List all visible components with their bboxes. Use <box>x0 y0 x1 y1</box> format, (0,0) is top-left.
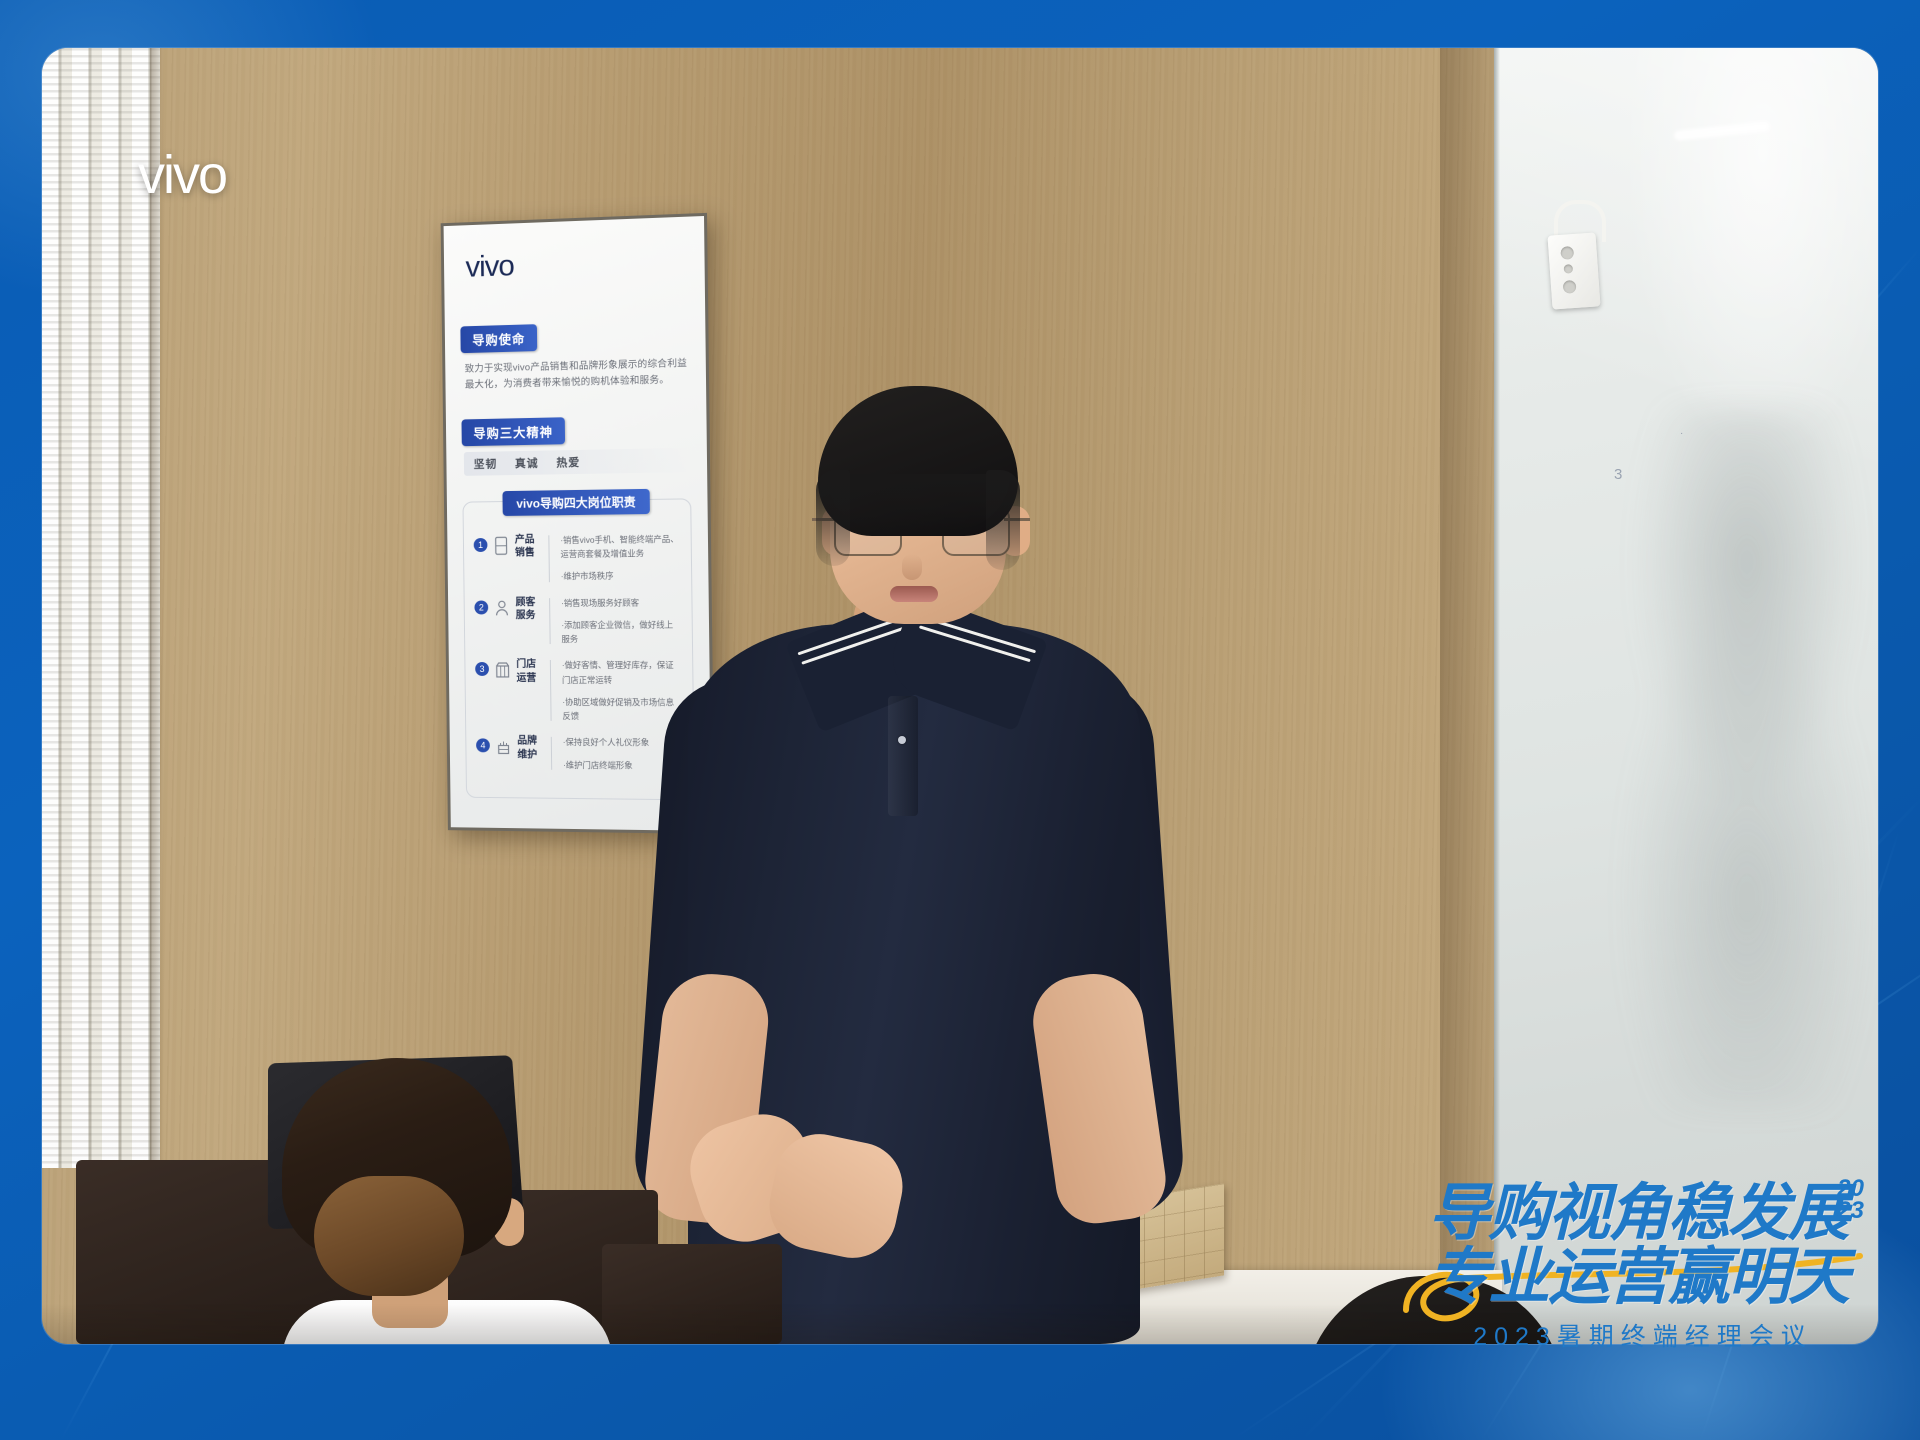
presenter-hair-side <box>816 470 850 566</box>
event-logo-subtitle: 2023暑期终端经理会议 <box>1428 1317 1858 1353</box>
duty-name-bottom: 维护 <box>517 749 543 763</box>
duty-number: 1 <box>474 538 488 552</box>
presenter-hair-fringe <box>826 474 1010 530</box>
presenter <box>602 378 1222 1344</box>
presenter-hair-side <box>986 470 1020 570</box>
phone-icon <box>493 535 509 555</box>
duty-number: 3 <box>475 662 489 676</box>
duty-name-top: 产品 <box>515 533 541 547</box>
whiteboard-shadow <box>1602 408 1878 1108</box>
duty-divider <box>551 737 552 770</box>
duty-divider <box>550 660 552 721</box>
duty-name-top: 品牌 <box>517 735 543 749</box>
control-button[interactable] <box>1560 246 1574 260</box>
store-icon <box>495 660 511 680</box>
poster-spirit-word: 热爱 <box>556 454 580 470</box>
poster-spirit-word: 真诚 <box>515 454 539 470</box>
event-logo: 导购视角稳发展 专业运营赢明天 20 23 2023暑期终端经理会议 <box>1428 1184 1858 1374</box>
event-year-bottom: 23 <box>1837 1200 1864 1222</box>
poster-mission-tag: 导购使命 <box>460 324 537 353</box>
window-blinds <box>42 48 160 1168</box>
vivo-watermark: vivo <box>138 144 226 206</box>
control-button[interactable] <box>1563 280 1577 294</box>
attendee-hair-bun <box>314 1176 464 1296</box>
brand-icon <box>496 737 512 757</box>
poster-spirit-word: 坚韧 <box>474 455 498 471</box>
duty-name-top: 门店 <box>516 658 542 671</box>
duty-name-bottom: 销售 <box>515 547 541 561</box>
blind-shadow <box>150 48 164 1168</box>
presenter-nose <box>902 554 922 580</box>
wall-control-box[interactable] <box>1547 232 1600 309</box>
customer-icon <box>494 598 510 618</box>
duty-number: 4 <box>476 739 490 753</box>
duty-number: 2 <box>474 600 488 614</box>
slide-backdrop: 3 · vivo 导购使命 致力于实现vivo产品销售和品牌形象展示的综合利益最… <box>0 0 1920 1440</box>
duty-name-bottom: 服务 <box>516 609 542 623</box>
duty-name-bottom: 运营 <box>516 672 542 685</box>
whiteboard-frame-edge <box>1494 48 1500 1344</box>
poster-vivo-logo: vivo <box>465 243 688 285</box>
duty-divider <box>548 535 550 582</box>
meeting-photo: 3 · vivo 导购使命 致力于实现vivo产品销售和品牌形象展示的综合利益最… <box>42 48 1878 1344</box>
blind-perforations <box>42 48 160 1168</box>
presenter-mouth <box>890 586 938 602</box>
polo-placket <box>888 696 918 816</box>
polo-button <box>898 736 906 744</box>
duty-name-top: 顾客 <box>516 596 542 610</box>
duty-divider <box>549 598 551 645</box>
seated-attendee-woman <box>222 1048 622 1344</box>
control-button[interactable] <box>1564 264 1574 274</box>
event-logo-year: 20 23 <box>1837 1178 1864 1221</box>
event-logo-line1: 导购视角稳发展 <box>1428 1184 1858 1244</box>
wall-corner-shadow <box>1440 48 1500 1344</box>
event-logo-line2: 专业运营赢明天 <box>1428 1248 1858 1308</box>
poster-spirit-tag: 导购三大精神 <box>461 417 565 446</box>
